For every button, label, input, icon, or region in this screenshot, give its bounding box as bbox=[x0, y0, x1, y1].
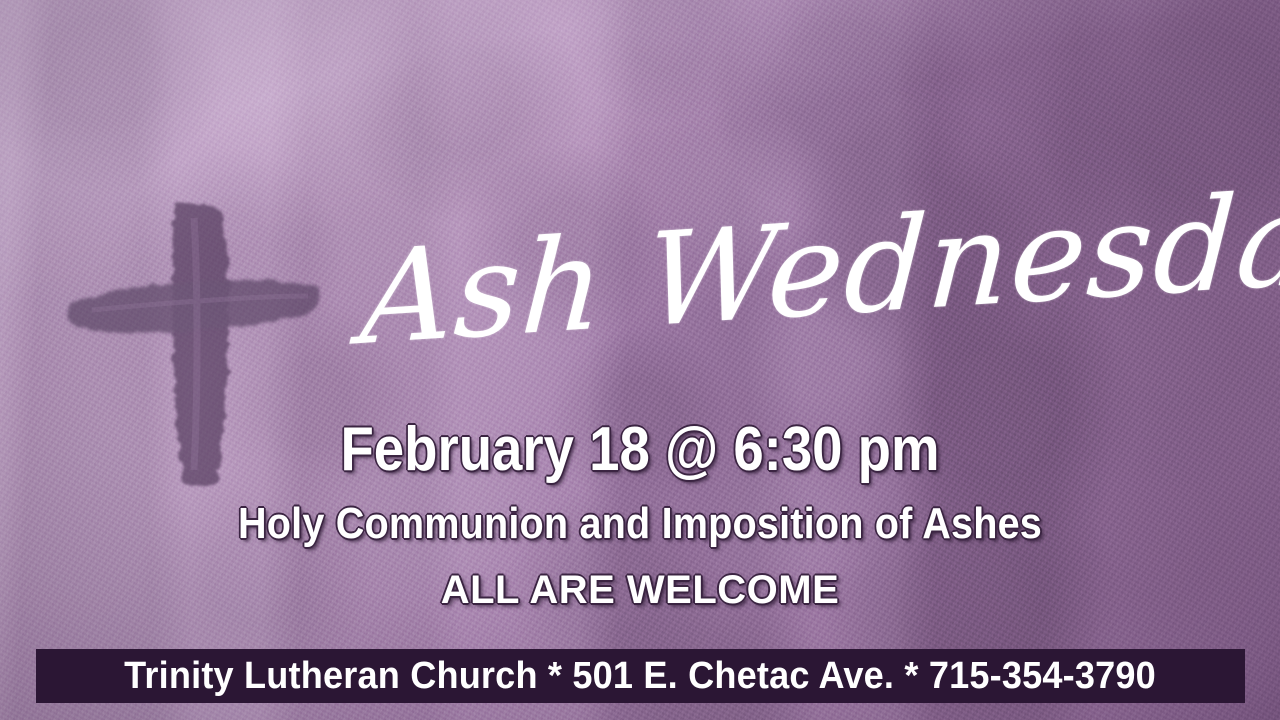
event-datetime: February 18 @ 6:30 pm bbox=[77, 414, 1203, 485]
footer-bar: Trinity Lutheran Church * 501 E. Chetac … bbox=[36, 649, 1245, 703]
welcome-message: ALL ARE WELCOME bbox=[0, 568, 1280, 613]
page-title: Ash Wednesday bbox=[355, 183, 1194, 416]
ash-wednesday-slide: Ash Wednesday February 18 @ 6:30 pm Holy… bbox=[0, 0, 1280, 720]
footer-contact-text: Trinity Lutheran Church * 501 E. Chetac … bbox=[125, 655, 1157, 698]
event-description: Holy Communion and Imposition of Ashes bbox=[64, 499, 1216, 549]
